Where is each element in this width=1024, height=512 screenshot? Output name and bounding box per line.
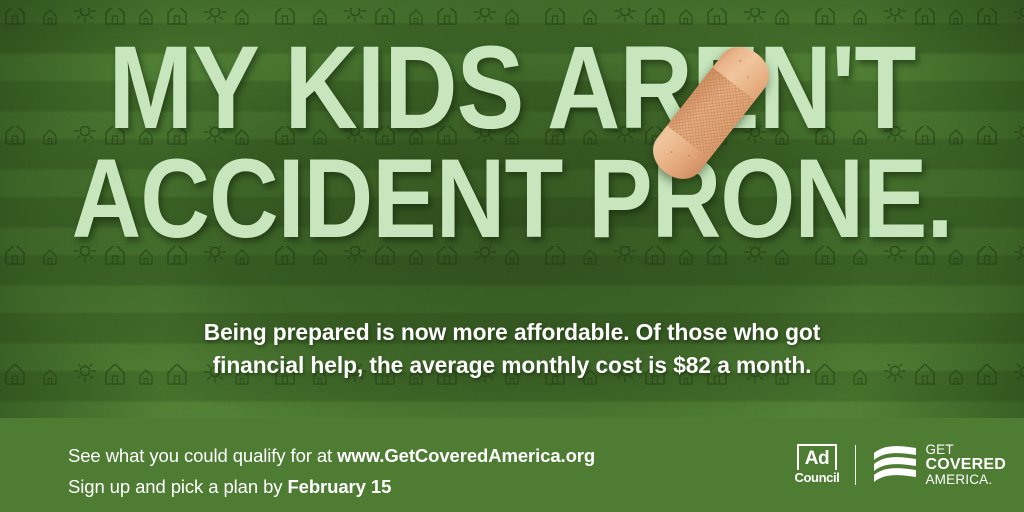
footer-bar: See what you could qualify for at www.Ge… <box>0 418 1024 512</box>
ad-council-ad-text: Ad <box>805 449 829 468</box>
wavy-flag-icon <box>872 444 918 486</box>
footer-cta-line: See what you could qualify for at www.Ge… <box>68 440 595 471</box>
get-covered-america-wordmark: GET COVERED AMERICA. <box>925 443 1006 488</box>
ad-council-box: Ad <box>797 444 837 470</box>
gca-line-get: GET <box>925 443 1006 457</box>
footer-deadline-prefix: Sign up and pick a plan by <box>68 476 287 497</box>
logo-divider <box>855 445 857 485</box>
ad-council-logo[interactable]: Ad Council <box>795 441 839 489</box>
footer-deadline-date: February 15 <box>287 476 391 497</box>
footer-cta-prefix: See what you could qualify for at <box>68 445 337 466</box>
footer-website-link[interactable]: www.GetCoveredAmerica.org <box>337 445 595 466</box>
footer-deadline-line: Sign up and pick a plan by February 15 <box>68 471 595 502</box>
logo-row: Ad Council GET COVERED AMERICA. <box>795 436 1006 494</box>
ad-banner: MY KIDS AREN'T ACCIDENT PRONE. Being pre… <box>0 0 1024 512</box>
footer-copy: See what you could qualify for at www.Ge… <box>68 440 595 502</box>
get-covered-america-logo[interactable]: GET COVERED AMERICA. <box>872 443 1006 488</box>
ad-council-council-text: Council <box>795 471 840 485</box>
gca-line-covered: COVERED <box>925 457 1006 474</box>
gca-line-america: AMERICA. <box>925 473 1006 487</box>
